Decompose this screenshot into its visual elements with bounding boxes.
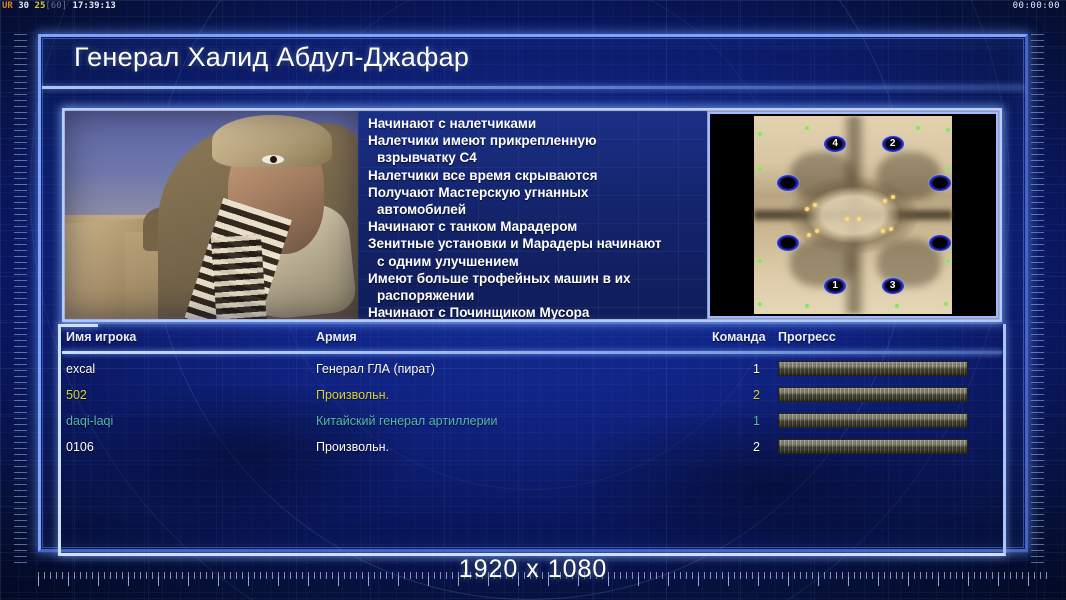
- title-bar: Генерал Халид Абдул-Джафар: [38, 34, 1028, 90]
- ability-line: Начинают с танком Марадером: [368, 218, 701, 235]
- loading-screen: UR 30 25[60] 17:39:13 00:00:00 Генерал Х…: [0, 0, 1066, 600]
- ability-line: Налетчики имеют прикрепленную: [368, 132, 701, 149]
- ability-line: Начинают с Починщиком Мусора: [368, 304, 701, 319]
- ability-line: Налетчики все время скрываются: [368, 167, 701, 184]
- map-tech-building-icon: [758, 259, 762, 263]
- ability-line: распоряжении: [368, 287, 701, 304]
- top-status-bar: UR 30 25[60] 17:39:13 00:00:00: [0, 0, 1066, 13]
- map-spawn-point[interactable]: [929, 175, 951, 191]
- player-team: 2: [712, 434, 760, 460]
- player-army: Китайский генерал артиллерии: [316, 408, 498, 434]
- map-preview[interactable]: 4213: [708, 112, 998, 318]
- player-table-header: Имя игрока Армия Команда Прогресс: [62, 330, 1002, 351]
- map-spawn-point[interactable]: 4: [824, 136, 846, 152]
- ability-line: Начинают с налетчиками: [368, 115, 701, 132]
- table-row: excalГенерал ГЛА (пират)1: [62, 356, 1002, 382]
- player-progress-cell: [778, 382, 968, 397]
- player-army: Генерал ГЛА (пират): [316, 356, 435, 382]
- general-info-panel: Начинают с налетчикамиНалетчики имеют пр…: [62, 108, 1002, 322]
- player-progress-cell: [778, 408, 968, 423]
- ability-line: взрывчатку C4: [368, 149, 701, 166]
- portrait-vignette: [65, 111, 358, 319]
- map-spawn-point[interactable]: 3: [882, 278, 904, 294]
- map-tech-building-icon: [895, 304, 899, 308]
- general-abilities-list: Начинают с налетчикамиНалетчики имеют пр…: [368, 115, 701, 319]
- column-header-name: Имя игрока: [66, 330, 136, 344]
- column-header-army: Армия: [316, 330, 357, 344]
- player-name: 0106: [66, 434, 94, 460]
- page-title: Генерал Халид Абдул-Джафар: [74, 42, 469, 73]
- player-table: Имя игрока Армия Команда Прогресс excalГ…: [62, 330, 1002, 526]
- progress-bar: [778, 413, 968, 428]
- map-tech-building-icon: [805, 304, 809, 308]
- player-team: 2: [712, 382, 760, 408]
- progress-bar: [778, 387, 968, 402]
- progress-bar: [778, 361, 968, 376]
- map-spawn-point[interactable]: [929, 235, 951, 251]
- map-spawn-point[interactable]: [777, 175, 799, 191]
- status-clock: 17:39:13: [72, 1, 115, 11]
- main-window: Генерал Халид Абдул-Джафар: [38, 34, 1028, 552]
- table-row: 0106Произвольн.2: [62, 434, 1002, 460]
- player-army: Произвольн.: [316, 382, 389, 408]
- column-header-progress: Прогресс: [778, 330, 836, 344]
- map-spawn-point[interactable]: [777, 235, 799, 251]
- resolution-label: 1920 x 1080: [0, 555, 1066, 584]
- map-tech-building-icon: [946, 167, 950, 171]
- map-tech-building-icon: [758, 167, 762, 171]
- table-row: daqi-laqiКитайский генерал артиллерии1: [62, 408, 1002, 434]
- ruler-left: [14, 34, 27, 564]
- ability-line: Имеют больше трофейных машин в их: [368, 270, 701, 287]
- player-progress-cell: [778, 356, 968, 371]
- title-divider: [42, 86, 1024, 89]
- ability-line: Зенитные установки и Марадеры начинают: [368, 235, 701, 252]
- general-abilities-panel: Начинают с налетчикамиНалетчики имеют пр…: [358, 111, 707, 319]
- general-portrait: [65, 111, 358, 319]
- info-panel-content: Начинают с налетчикамиНалетчики имеют пр…: [65, 111, 999, 319]
- player-table-header-divider: [62, 351, 1002, 354]
- map-supply-icon: [889, 227, 893, 231]
- ruler-right: [1031, 34, 1044, 564]
- column-header-team: Команда: [712, 330, 766, 344]
- map-supply-icon: [883, 199, 887, 203]
- player-name: daqi-laqi: [66, 408, 113, 434]
- progress-bar: [778, 439, 968, 454]
- map-tech-building-icon: [946, 128, 950, 132]
- status-value-3: [60]: [45, 1, 67, 11]
- map-tech-building-icon: [916, 126, 920, 130]
- map-tech-building-icon: [946, 259, 950, 263]
- player-team: 1: [712, 356, 760, 382]
- map-supply-icon: [845, 217, 849, 221]
- player-army: Произвольн.: [316, 434, 389, 460]
- status-right-clock: 00:00:00: [1013, 0, 1060, 13]
- map-tech-building-icon: [805, 126, 809, 130]
- player-name: excal: [66, 356, 95, 382]
- status-left: UR 30 25[60] 17:39:13: [2, 0, 116, 13]
- status-value-2: 25: [35, 1, 46, 11]
- map-supply-icon: [891, 195, 895, 199]
- map-tech-building-icon: [758, 132, 762, 136]
- status-value-1: 30: [18, 1, 29, 11]
- map-spawn-point[interactable]: 2: [882, 136, 904, 152]
- ability-line: Получают Мастерскую угнанных: [368, 184, 701, 201]
- status-tag: UR: [2, 1, 13, 11]
- map-tech-building-icon: [758, 302, 762, 306]
- map-supply-icon: [857, 217, 861, 221]
- map-center-feature: [788, 176, 918, 254]
- map-supply-icon: [881, 229, 885, 233]
- player-progress-cell: [778, 434, 968, 449]
- ability-line: с одним улучшением: [368, 253, 701, 270]
- player-team: 1: [712, 408, 760, 434]
- player-name: 502: [66, 382, 87, 408]
- map-tech-building-icon: [944, 302, 948, 306]
- player-table-border-top: [58, 324, 98, 327]
- map-terrain: 4213: [754, 116, 952, 314]
- table-row: 502Произвольн.2: [62, 382, 1002, 408]
- ability-line: автомобилей: [368, 201, 701, 218]
- player-table-body: excalГенерал ГЛА (пират)1502Произвольн.2…: [62, 356, 1002, 460]
